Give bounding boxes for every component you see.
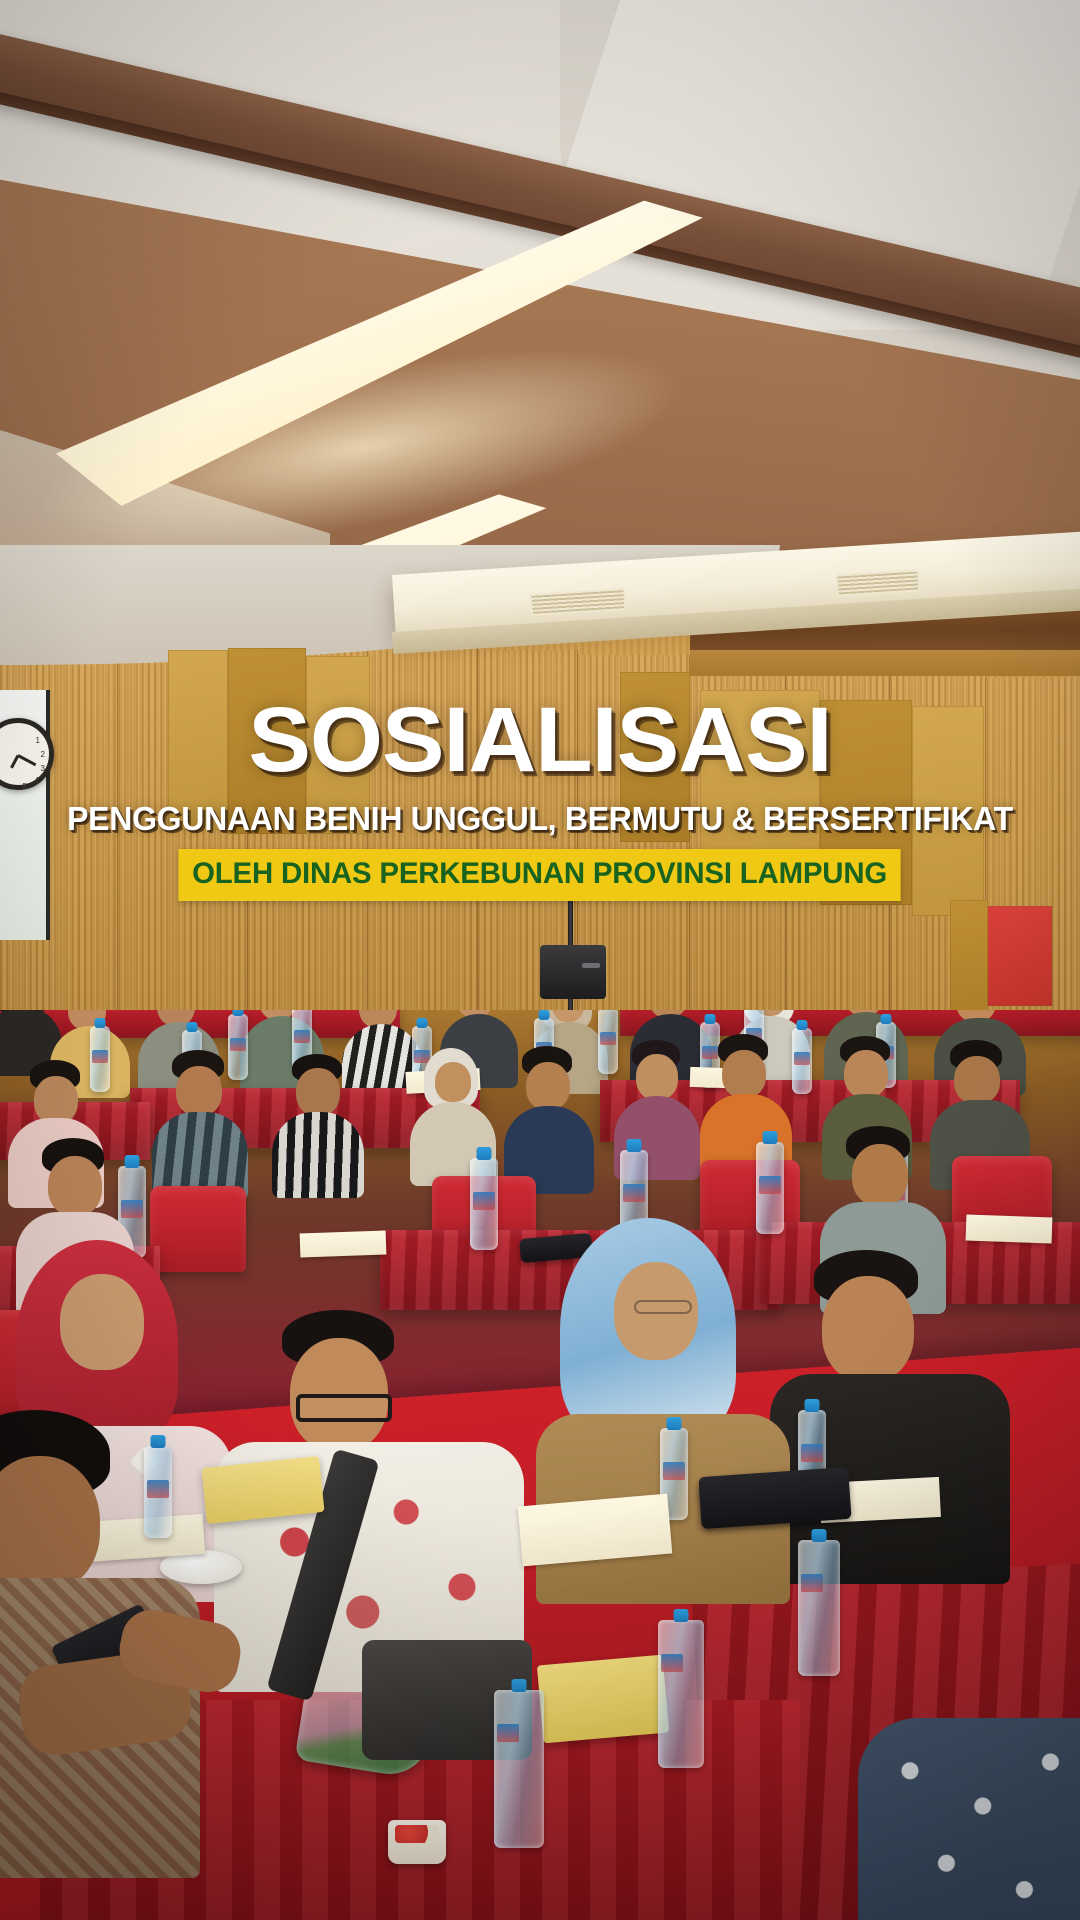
- water-bottle: [756, 1142, 784, 1234]
- acoustic-panel: [912, 706, 984, 916]
- paper-note: [966, 1215, 1053, 1244]
- attendee-patterned-shirt: [858, 1718, 1080, 1920]
- wall-lintel-band: [690, 650, 1080, 676]
- water-bottle: [792, 1028, 812, 1094]
- water-bottle: [90, 1026, 110, 1092]
- paper-note: [300, 1231, 387, 1258]
- clock-hand-minute: [17, 754, 36, 766]
- eyeglasses: [296, 1394, 392, 1422]
- chair: [150, 1186, 246, 1272]
- tablet-device-front: [698, 1467, 851, 1529]
- speaker-slit: [582, 963, 600, 968]
- water-bottle: [598, 1010, 618, 1074]
- clock-tick: 2: [41, 750, 45, 759]
- acoustic-panel: [168, 650, 228, 830]
- water-bottle-front: [494, 1690, 544, 1848]
- screenshot-canvas: 1 2 3 4 5: [0, 0, 1080, 1920]
- acoustic-panel: [820, 700, 912, 905]
- water-bottle: [228, 1014, 248, 1080]
- yellow-folder: [537, 1655, 669, 1744]
- loudspeaker: [540, 945, 606, 999]
- acoustic-panel: [306, 656, 370, 834]
- acoustic-panel-red: [986, 906, 1052, 1006]
- water-bottle-front: [798, 1540, 840, 1676]
- clock-tick: 5: [23, 782, 27, 791]
- clock-tick: 4: [35, 776, 39, 785]
- water-bottle: [144, 1446, 172, 1538]
- water-bottle-front: [658, 1620, 704, 1768]
- acoustic-panel: [700, 690, 820, 890]
- clock-hand-hour: [10, 755, 19, 769]
- acoustic-panel: [620, 672, 690, 842]
- acoustic-panel: [950, 900, 988, 1020]
- candy-cup: [388, 1820, 446, 1864]
- eyeglasses: [634, 1300, 692, 1314]
- acoustic-panel: [228, 648, 306, 834]
- clock-tick: 3: [41, 764, 45, 773]
- water-bottle: [470, 1158, 498, 1250]
- clock-tick: 1: [36, 736, 40, 745]
